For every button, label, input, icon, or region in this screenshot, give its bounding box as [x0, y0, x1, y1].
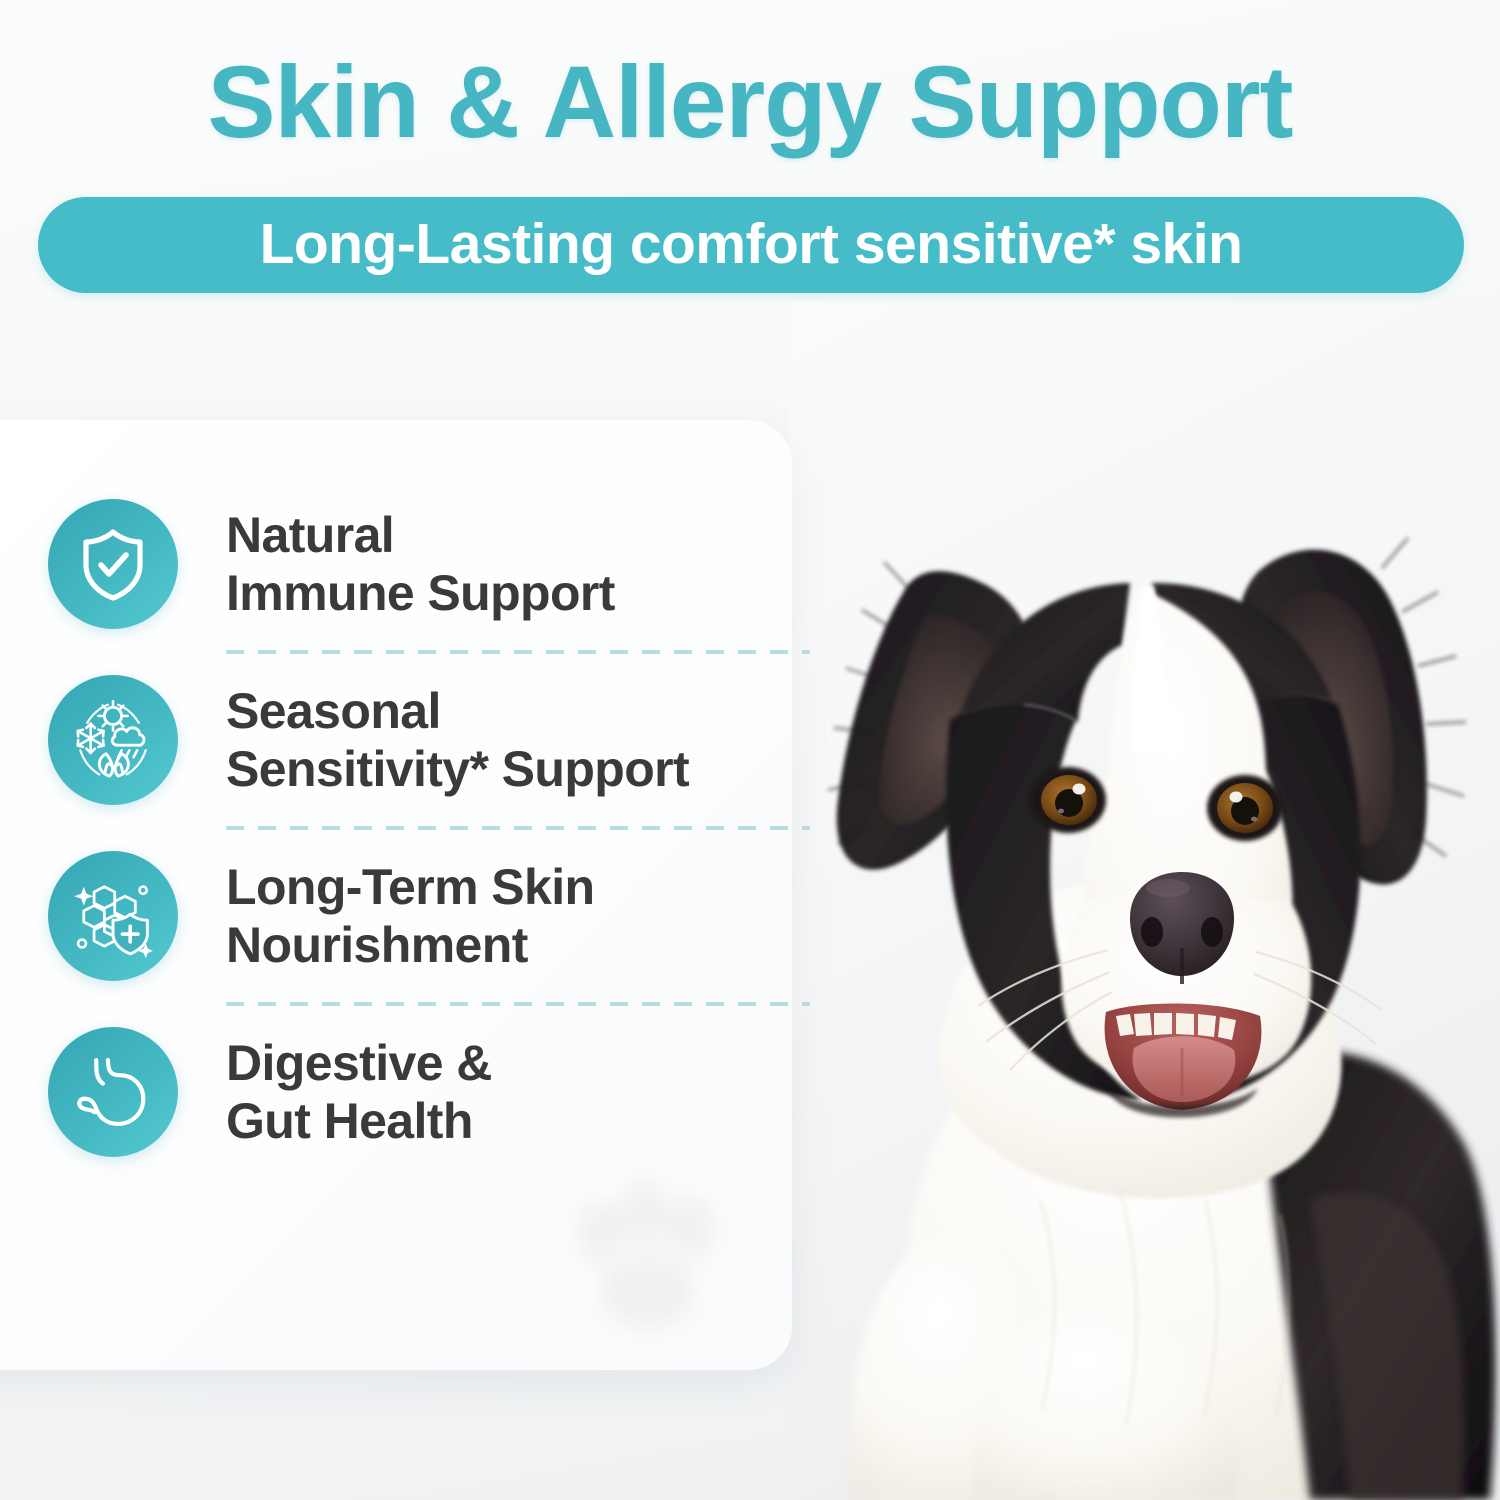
paw-print-ghost-icon: [545, 1160, 755, 1350]
feature-label-line2: Sensitivity* Support: [226, 740, 689, 798]
feature-item-digestive-gut-health[interactable]: Digestive & Gut Health: [48, 1006, 760, 1178]
feature-label: Seasonal Sensitivity* Support: [226, 682, 689, 798]
feature-label-line2: Gut Health: [226, 1092, 492, 1150]
feature-list: Natural Immune Support: [48, 478, 760, 1178]
feature-label: Natural Immune Support: [226, 506, 615, 622]
honeycomb-shield-icon-badge: [48, 851, 178, 981]
border-collie-dog-photo: [790, 300, 1500, 1500]
feature-label-line1: Long-Term Skin: [226, 859, 594, 915]
feature-label-line1: Seasonal: [226, 683, 441, 739]
feature-label: Long-Term Skin Nourishment: [226, 858, 594, 974]
stomach-icon-badge: [48, 1027, 178, 1157]
feature-label-line1: Digestive &: [226, 1035, 492, 1091]
feature-item-seasonal-sensitivity-support[interactable]: Seasonal Sensitivity* Support: [48, 654, 760, 826]
feature-item-long-term-skin-nourishment[interactable]: Long-Term Skin Nourishment: [48, 830, 760, 1002]
feature-label-line2: Nourishment: [226, 916, 594, 974]
four-seasons-icon: [70, 697, 156, 783]
feature-label: Digestive & Gut Health: [226, 1034, 492, 1150]
subtitle-text: Long-Lasting comfort sensitive* skin: [260, 211, 1243, 277]
feature-label-line1: Natural: [226, 507, 394, 563]
shield-check-icon: [74, 525, 152, 603]
feature-item-natural-immune-support[interactable]: Natural Immune Support: [48, 478, 760, 650]
shield-check-icon-badge: [48, 499, 178, 629]
product-infographic: Skin & Allergy Support Long-Lasting comf…: [0, 0, 1500, 1500]
subtitle-banner: Long-Lasting comfort sensitive* skin: [38, 197, 1464, 293]
feature-label-line2: Immune Support: [226, 564, 615, 622]
honeycomb-shield-icon: [70, 873, 156, 959]
four-seasons-icon-badge: [48, 675, 178, 805]
page-title: Skin & Allergy Support: [0, 44, 1500, 161]
stomach-icon: [71, 1050, 155, 1134]
